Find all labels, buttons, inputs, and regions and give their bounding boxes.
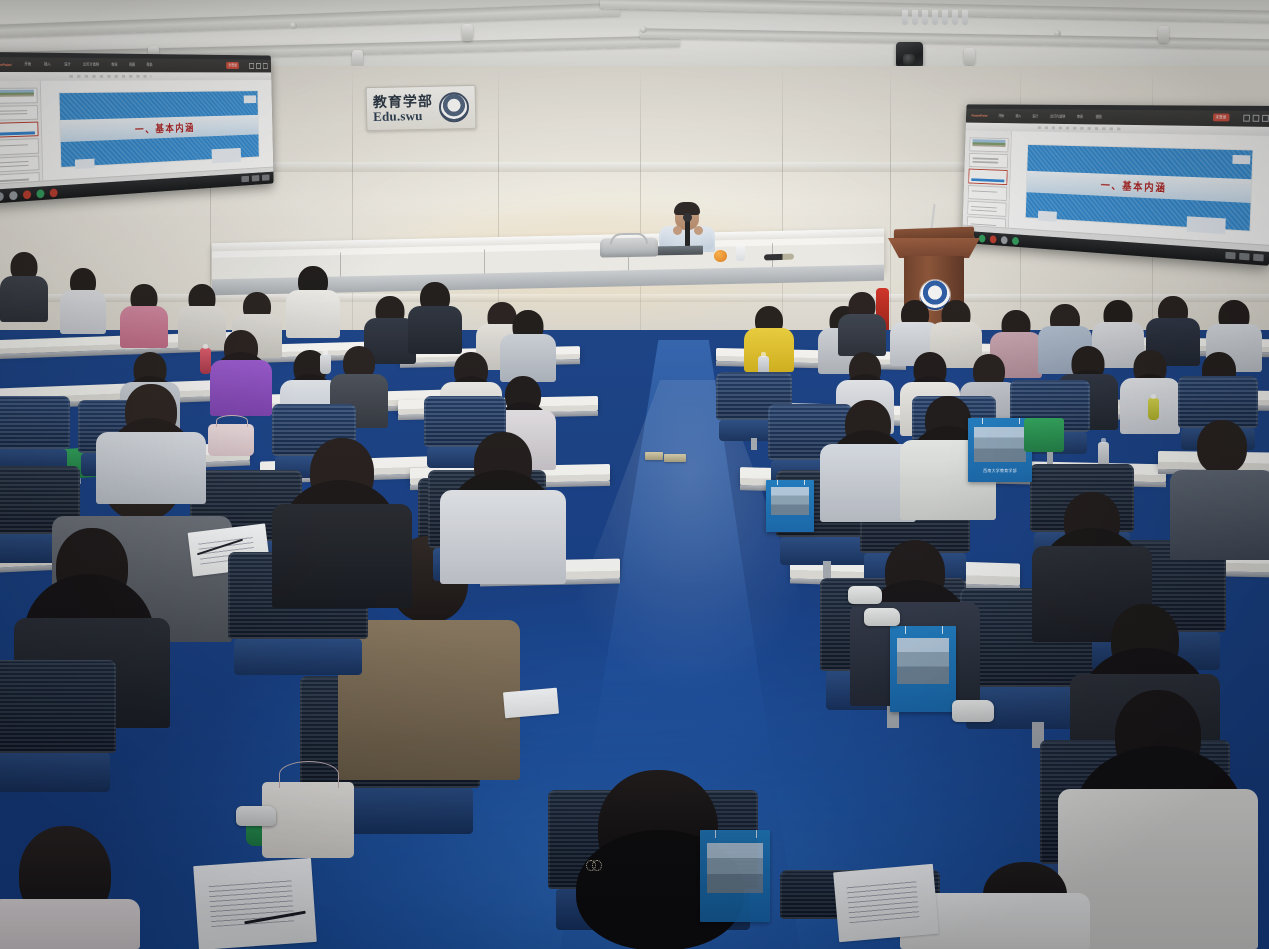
document-sheet [833,864,939,942]
ribbon-tab[interactable]: 幻灯片放映 [83,62,99,67]
audience-member [210,330,272,416]
slide-thumbnail[interactable] [0,121,38,138]
slide-thumbnail[interactable] [0,105,38,121]
campus-tote-bag [700,830,770,922]
ribbon-tab[interactable]: 视图 [129,62,135,67]
screen-indicator-group [241,174,269,182]
sprinkler-icon [640,26,647,33]
campus-tote-bag: 西南大学教育学部 [968,418,1032,482]
ribbon-tab[interactable]: 审阅 [1077,114,1083,119]
slide-thumbnail[interactable] [967,185,1006,201]
ceiling-beam [640,28,1269,50]
powerpoint-window-mirror: PowerPoint 开始 插入 设计 幻灯片放映 审阅 视图 未登录 [962,109,1269,252]
orange-fruit [714,250,727,262]
screen-record-icon[interactable] [23,190,31,199]
ribbon-tab[interactable]: 插入 [1015,113,1021,118]
audience-member [838,292,886,356]
ceiling-camera-icon [896,42,923,68]
microphone-icon [685,218,690,248]
audience-member [120,284,168,348]
department-sign-english: Edu.swu [373,108,439,123]
account-badge[interactable]: 未登录 [226,62,239,69]
ribbon-tab[interactable]: 设计 [1032,114,1038,119]
shoulder-bag [600,237,658,257]
pendant-fixture-icon [900,4,972,26]
water-bottle [1148,398,1159,420]
water-bottle [200,348,211,374]
notebook [193,858,317,949]
maximize-icon[interactable] [1253,115,1260,122]
sprinkler-icon [1054,30,1061,37]
window-controls[interactable] [249,63,268,69]
powerpoint-ribbon[interactable]: PowerPoint 开始 插入 设计 幻灯片放映 审阅 视图 帮助 未登录 [0,57,271,72]
account-badge[interactable]: 未登录 [1213,114,1230,122]
minimize-icon[interactable] [249,63,254,69]
chair[interactable] [0,660,116,810]
audience-member [1170,420,1269,560]
slide-thumbnail[interactable] [0,155,39,173]
slide-thumbnail[interactable] [967,201,1006,217]
ribbon-tab[interactable]: 插入 [44,62,51,68]
track-light-icon [1158,26,1169,43]
water-bottle [320,354,331,374]
slide-thumbnail[interactable] [968,169,1007,185]
screen-volume-icon[interactable] [36,189,44,198]
bow-hairclip [586,860,602,869]
screen-source-icon[interactable] [9,190,17,199]
audience-member [500,310,556,382]
ribbon-tab[interactable]: 设计 [64,62,71,67]
slide-title-text: 一、基本内涵 [1101,177,1167,195]
current-slide[interactable]: 一、基本内涵 [1026,145,1253,231]
water-bottle [736,244,745,261]
slide-thumbnail-panel[interactable] [963,131,1012,229]
audience-member [272,438,412,608]
ribbon-tab[interactable]: 审阅 [111,62,117,67]
track-light-icon [964,48,975,65]
track-light-icon [352,50,363,67]
screen-volume-icon[interactable] [1001,236,1008,244]
slide-thumbnail[interactable] [0,88,38,104]
left-projection-screen[interactable]: PowerPoint 开始 插入 设计 幻灯片放映 审阅 视图 帮助 未登录 [0,52,274,204]
slide-thumbnail-panel[interactable] [0,81,43,185]
audience-member [286,266,340,338]
slide-title-band: 一、基本内涵 [60,115,258,142]
paper-sheet [503,688,559,719]
powerpoint-window: PowerPoint 开始 插入 设计 幻灯片放映 审阅 视图 帮助 未登录 [0,57,273,190]
right-projection-screen[interactable]: PowerPoint 开始 插入 设计 幻灯片放映 审阅 视图 未登录 [962,104,1269,265]
audience-member [60,268,106,334]
audience-member [744,306,794,372]
ceiling-beam [0,3,620,38]
campus-tote-bag [890,626,956,712]
ribbon-tab[interactable]: 幻灯片放映 [1050,114,1065,119]
current-slide[interactable]: 一、基本内涵 [60,91,259,167]
audience-member [0,252,48,322]
slide-thumbnail[interactable] [0,138,39,155]
maximize-icon[interactable] [256,63,261,69]
slide-stage[interactable]: 一、基本内涵 [41,80,273,181]
ribbon-tab[interactable]: 视图 [1095,114,1101,119]
presenter-laptop [655,246,703,256]
tote-caption: 西南大学教育学部 [976,469,1025,477]
screen-menu-icon[interactable] [1012,236,1019,244]
spare-microphone [764,253,794,260]
university-seal-icon [439,92,470,123]
shoe [952,700,994,722]
floor-socket-plate [645,452,663,460]
slide-thumbnail[interactable] [969,137,1008,152]
screen-record-icon[interactable] [990,235,997,243]
slide-title-band: 一、基本内涵 [1026,171,1251,204]
slide-thumbnail[interactable] [969,153,1008,169]
ribbon-tab[interactable]: 开始 [25,62,32,68]
presenter [655,204,719,250]
shoe [848,586,882,604]
green-shopping-bag [1024,418,1064,452]
track-light-icon [462,24,473,41]
department-sign-chinese: 教育学部 [373,94,439,110]
floor-socket-plate [664,454,686,462]
audience-member [0,826,140,949]
department-sign: 教育学部 Edu.swu [366,85,477,131]
powerpoint-logo: PowerPoint [0,62,12,67]
audience-member [408,282,462,354]
close-icon[interactable] [1262,115,1269,122]
close-icon[interactable] [263,63,268,69]
minimize-icon[interactable] [1244,115,1251,122]
powerpoint-logo: PowerPoint [971,113,987,118]
screen-menu-icon[interactable] [50,188,58,197]
audience-member [96,384,206,504]
screen-indicator-group [1225,252,1263,262]
screen-power-icon[interactable] [0,191,4,200]
ribbon-tab[interactable]: 开始 [998,113,1004,118]
window-controls[interactable] [1244,115,1269,122]
slide-title-text: 一、基本内涵 [135,120,195,136]
lecture-hall-photo: 教育学部 Edu.swu PowerPoint 开始 插入 设计 幻灯片放映 审… [0,0,1269,949]
ribbon-tab[interactable]: 帮助 [146,63,152,68]
shoe [864,608,900,626]
shoe [236,806,276,826]
slide-stage[interactable]: 一、基本内涵 [1009,132,1269,247]
sprinkler-icon [290,22,297,29]
audience-member [440,432,566,584]
campus-tote-bag [766,480,814,532]
